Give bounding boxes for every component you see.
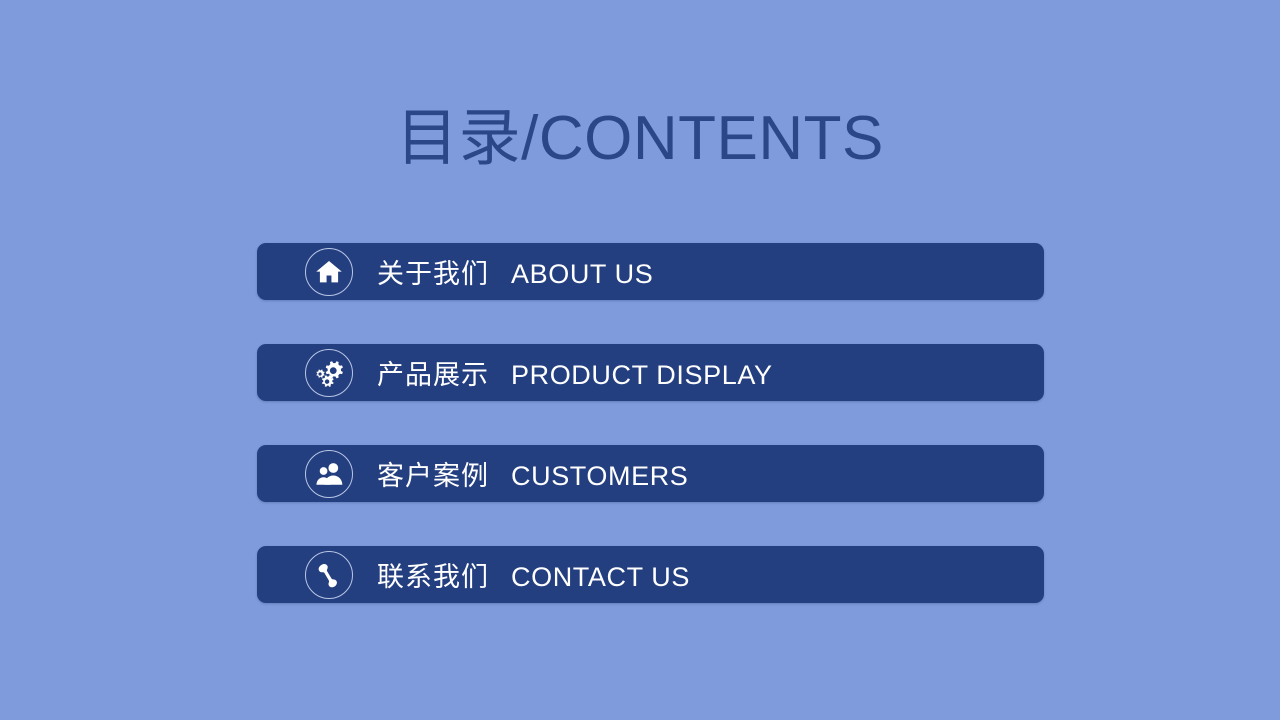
menu-item-contact-us[interactable]: 联系我们 CONTACT US [257,546,1044,603]
contents-slide: 目录/CONTENTS 关于我们 ABOUT US [0,0,1280,720]
page-title: 目录/CONTENTS [0,98,1280,180]
menu-item-label-en: CUSTOMERS [511,461,688,492]
menu-item-labels: 客户案例 CUSTOMERS [377,454,688,493]
menu-item-label-en: ABOUT US [511,259,653,290]
menu-item-labels: 产品展示 PRODUCT DISPLAY [377,353,773,392]
menu-item-label-en: CONTACT US [511,562,690,593]
menu-item-labels: 联系我们 CONTACT US [377,555,690,594]
home-icon [305,248,353,296]
menu-item-labels: 关于我们 ABOUT US [377,252,653,291]
phone-icon [305,551,353,599]
menu-item-label-cn: 客户案例 [377,454,489,493]
menu-item-product-display[interactable]: 产品展示 PRODUCT DISPLAY [257,344,1044,401]
menu-item-label-en: PRODUCT DISPLAY [511,360,773,391]
gears-icon [305,349,353,397]
menu-item-customers[interactable]: 客户案例 CUSTOMERS [257,445,1044,502]
menu-item-label-cn: 关于我们 [377,252,489,291]
users-icon [305,450,353,498]
menu-item-label-cn: 产品展示 [377,353,489,392]
contents-menu-list: 关于我们 ABOUT US 产品展示 PRODUCT DISPLAY [257,243,1044,603]
menu-item-about-us[interactable]: 关于我们 ABOUT US [257,243,1044,300]
menu-item-label-cn: 联系我们 [377,555,489,594]
